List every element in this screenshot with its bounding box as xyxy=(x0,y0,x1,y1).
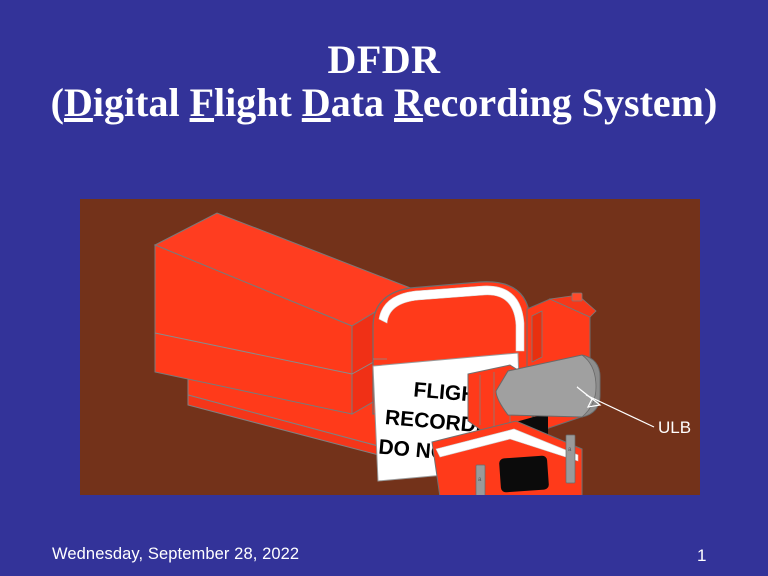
title-text-igital: igital xyxy=(93,80,190,125)
footer-page-number: 1 xyxy=(697,546,706,566)
ulb-callout-label: ULB xyxy=(658,418,691,437)
title-underlined-d2: D xyxy=(302,80,331,125)
slide-title: DFDR (Digital Flight Data Recording Syst… xyxy=(0,38,768,124)
title-text-ecording-system: ecording System) xyxy=(423,80,717,125)
dfdr-illustration: FLIGHT RECORDER DO NOT OPEN xyxy=(80,199,700,495)
title-text-ata: ata xyxy=(331,80,394,125)
footer-date: Wednesday, September 28, 2022 xyxy=(52,545,299,564)
title-underlined-r: R xyxy=(394,80,423,125)
title-underlined-f: F xyxy=(190,80,214,125)
title-text-light: light xyxy=(214,80,302,125)
title-line-2: (Digital Flight Data Recording System) xyxy=(0,81,768,124)
title-open-paren: ( xyxy=(51,80,64,125)
dfdr-drawing: FLIGHT RECORDER DO NOT OPEN xyxy=(80,199,700,495)
title-underlined-d1: D xyxy=(64,80,93,125)
slide-canvas: DFDR (Digital Flight Data Recording Syst… xyxy=(0,0,768,576)
title-line-1: DFDR xyxy=(0,38,768,81)
